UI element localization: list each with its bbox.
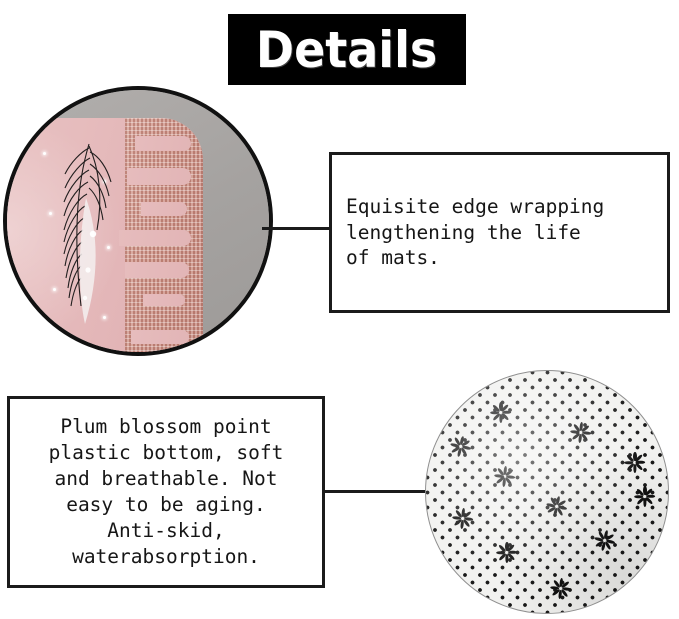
glitter-drip-4 xyxy=(119,230,191,246)
glitter-drip-1 xyxy=(135,136,191,151)
sparkle xyxy=(53,288,56,291)
backing-shading xyxy=(426,371,668,613)
callout-plum-blossom-bottom: Plum blossom point plastic bottom, soft … xyxy=(7,396,325,588)
glitter-drip-5 xyxy=(125,262,189,278)
feather-icon xyxy=(59,138,129,338)
details-infographic: Details xyxy=(0,0,679,619)
page-title: Details xyxy=(256,25,437,75)
glitter-drip-2 xyxy=(127,168,191,185)
sparkle xyxy=(49,212,52,215)
glitter-drip-7 xyxy=(131,330,189,344)
photo-mat-edge-closeup: Hello xyxy=(3,86,273,356)
photo-mat-backing-closeup xyxy=(425,370,669,614)
leader-line-top xyxy=(262,227,332,230)
glitter-drip-6 xyxy=(143,294,185,306)
details-title-banner: Details xyxy=(228,14,466,85)
callout-edge-wrapping: Equisite edge wrapping lengthening the l… xyxy=(329,152,670,313)
callout-edge-wrapping-text: Equisite edge wrapping lengthening the l… xyxy=(346,194,653,272)
sparkle xyxy=(43,152,46,155)
callout-plum-blossom-bottom-text: Plum blossom point plastic bottom, soft … xyxy=(20,414,312,570)
glitter-drip-3 xyxy=(141,202,187,216)
leader-line-bottom xyxy=(322,490,432,493)
